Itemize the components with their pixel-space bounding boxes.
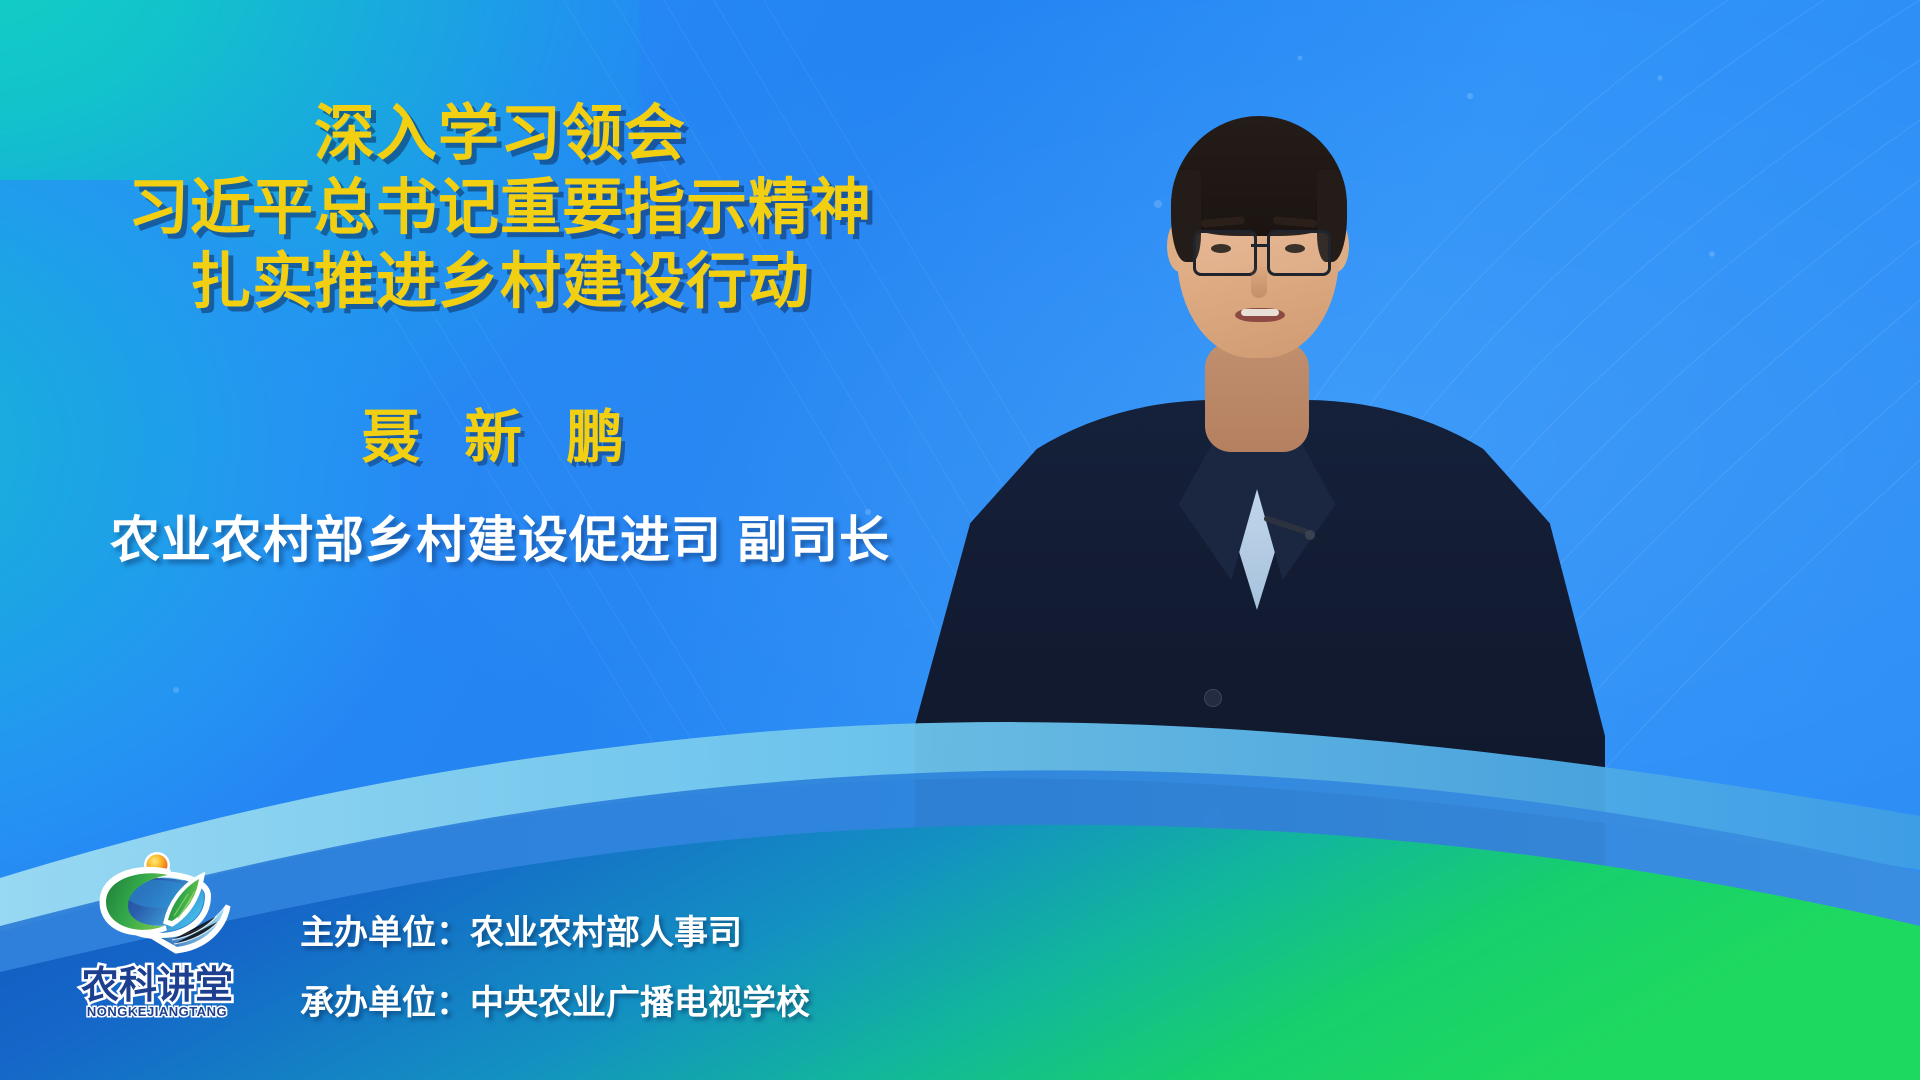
microphone-head [1305, 530, 1315, 540]
logo-pinyin: NONGKEJIANGTANG [62, 1004, 252, 1019]
credit-row-host: 承办单位：中央农业广播电视学校 [300, 968, 810, 1038]
slide-stage: 深入学习领会 习近平总书记重要指示精神 扎实推进乡村建设行动 聂 新 鹏 农业农… [0, 0, 1920, 1080]
speaker-name: 聂 新 鹏 [0, 390, 1000, 474]
title-line-3: 扎实推进乡村建设行动 [0, 244, 1000, 318]
speaker-role: 农业农村部乡村建设促进司 副司长 [0, 500, 1000, 572]
speaker-nose [1251, 264, 1267, 298]
title-line-2: 习近平总书记重要指示精神 [0, 170, 1000, 244]
footer-credits: 主办单位：农业农村部人事司 承办单位：中央农业广播电视学校 [300, 898, 810, 1038]
bottom-wave-decoration [0, 620, 1920, 1080]
glasses-lens-right [1267, 230, 1331, 276]
program-logo: 农科讲堂 NONGKEJIANGTANG [62, 848, 252, 1044]
glasses-bridge [1251, 244, 1267, 247]
credit-row-organizer: 主办单位：农业农村部人事司 [300, 898, 810, 968]
logo-name: 农科讲堂 [62, 954, 252, 1009]
logo-emblem [62, 848, 252, 958]
headline-title: 深入学习领会 习近平总书记重要指示精神 扎实推进乡村建设行动 [0, 96, 1000, 318]
speaker-teeth [1241, 309, 1279, 316]
glasses-lens-left [1193, 230, 1257, 276]
title-line-1: 深入学习领会 [0, 96, 1000, 170]
speaker-neck [1205, 342, 1309, 452]
